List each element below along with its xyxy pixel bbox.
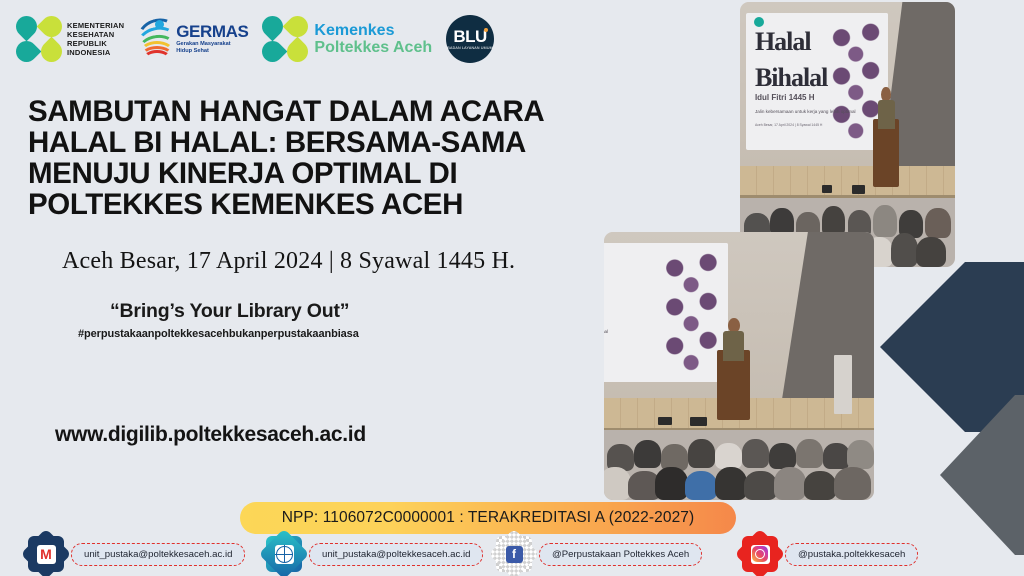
germas-subtitle-1: Gerakan Masyarakat xyxy=(176,41,248,48)
chevron-navy-decoration xyxy=(880,262,1024,432)
poltekkes-line-1: Kemenkes xyxy=(314,22,432,39)
blu-circle-logo: BLU BADAN LAYANAN UMUM xyxy=(446,15,494,63)
photo-banner-sub: Idul Fitri 1445 H xyxy=(755,93,815,102)
logo-poltekkes-aceh: Kemenkes Poltekkes Aceh xyxy=(262,16,432,62)
facebook-icon[interactable]: f xyxy=(496,536,532,572)
kemenkes-ri-wordmark: KEMENTERIAN KESEHATAN REPUBLIK INDONESIA xyxy=(67,21,124,58)
kemenkes-line-1: KEMENTERIAN xyxy=(67,21,124,30)
photo-banner-title-2: Bihalal xyxy=(755,65,827,90)
logo-germas: GERMAS Gerakan Masyarakat Hidup Sehat xyxy=(134,17,248,61)
page-title: SAMBUTAN HANGAT DALAM ACARA HALAL BI HAL… xyxy=(28,96,628,220)
kemenkes-line-2: KESEHATAN xyxy=(67,30,124,39)
headline-line-4: POLTEKKES KEMENKES ACEH xyxy=(28,189,628,220)
halal-bihalal-stage-photo-bottom: lal ng lebih optimal xyxy=(604,232,874,500)
photo-banner-title: Halal xyxy=(755,29,811,54)
poltekkes-line-2: Poltekkes Aceh xyxy=(314,39,432,56)
germas-subtitle-2: Hidup Sehat xyxy=(176,48,248,55)
gmail-icon[interactable]: M xyxy=(28,536,64,572)
kemenkes-line-4: INDONESIA xyxy=(67,48,124,57)
logo-kemenkes-ri: KEMENTERIAN KESEHATAN REPUBLIK INDONESIA xyxy=(16,16,124,62)
hashtag-text: #perpustakaanpoltekkesacehbukanperpustak… xyxy=(78,328,359,340)
social-footer-bar: M unit_pustaka@poltekkesaceh.ac.id unit_… xyxy=(0,532,1024,576)
photo-banner-caption-2: Aceh Besar, 17 April 2024 | 8 Syawal 144… xyxy=(755,123,822,127)
website-url[interactable]: www.digilib.poltekkesaceh.ac.id xyxy=(55,423,366,447)
website-globe-icon[interactable] xyxy=(266,536,302,572)
headline-line-3: MENUJU KINERJA OPTIMAL DI xyxy=(28,158,628,189)
photo-banner-caption: Jalin kebersamaan untuk kerja yang lebih… xyxy=(755,109,856,114)
footer-label-facebook[interactable]: @Perpustakaan Poltekkes Aceh xyxy=(539,543,702,566)
gmail-m-glyph: M xyxy=(40,547,52,561)
footer-label-instagram[interactable]: @pustaka.poltekkesaceh xyxy=(785,543,918,566)
blu-subtitle: BADAN LAYANAN UMUM xyxy=(447,46,492,50)
footer-item-instagram[interactable]: @pustaka.poltekkesaceh xyxy=(742,532,918,576)
logo-bar: KEMENTERIAN KESEHATAN REPUBLIK INDONESIA… xyxy=(16,8,494,70)
kemenkes-flower-logo-2 xyxy=(262,16,308,62)
germas-swoosh-icon xyxy=(134,17,174,61)
kemenkes-line-3: REPUBLIK xyxy=(67,39,124,48)
instagram-icon[interactable] xyxy=(742,536,778,572)
blu-title: BLU xyxy=(453,29,486,45)
audience-crowd-2 xyxy=(604,430,874,500)
poster-canvas: KEMENTERIAN KESEHATAN REPUBLIK INDONESIA… xyxy=(0,0,1024,576)
headline-line-1: SAMBUTAN HANGAT DALAM ACARA xyxy=(28,96,628,127)
kemenkes-flower-logo xyxy=(16,16,62,62)
accreditation-banner: NPP: 1106072C0000001 : TERAKREDITASI A (… xyxy=(240,502,736,534)
footer-item-website[interactable]: unit_pustaka@poltekkesaceh.ac.id xyxy=(266,532,483,576)
footer-label-email[interactable]: unit_pustaka@poltekkesaceh.ac.id xyxy=(71,543,245,566)
facebook-f-glyph: f xyxy=(506,546,523,563)
library-tagline: “Bring’s Your Library Out” xyxy=(110,300,349,323)
halal-bihalal-stage-photo-top: Halal Bihalal Idul Fitri 1445 H Jalin ke… xyxy=(740,2,955,267)
footer-item-email[interactable]: M unit_pustaka@poltekkesaceh.ac.id xyxy=(28,532,245,576)
footer-label-website[interactable]: unit_pustaka@poltekkesaceh.ac.id xyxy=(309,543,483,566)
footer-item-facebook[interactable]: f @Perpustakaan Poltekkes Aceh xyxy=(496,532,702,576)
headline-line-2: HALAL BI HALAL: BERSAMA-SAMA xyxy=(28,127,628,158)
germas-title: GERMAS xyxy=(176,23,248,41)
event-dateline: Aceh Besar, 17 April 2024 | 8 Syawal 144… xyxy=(62,248,515,275)
photo2-banner-caption: ng lebih optimal xyxy=(604,329,608,334)
